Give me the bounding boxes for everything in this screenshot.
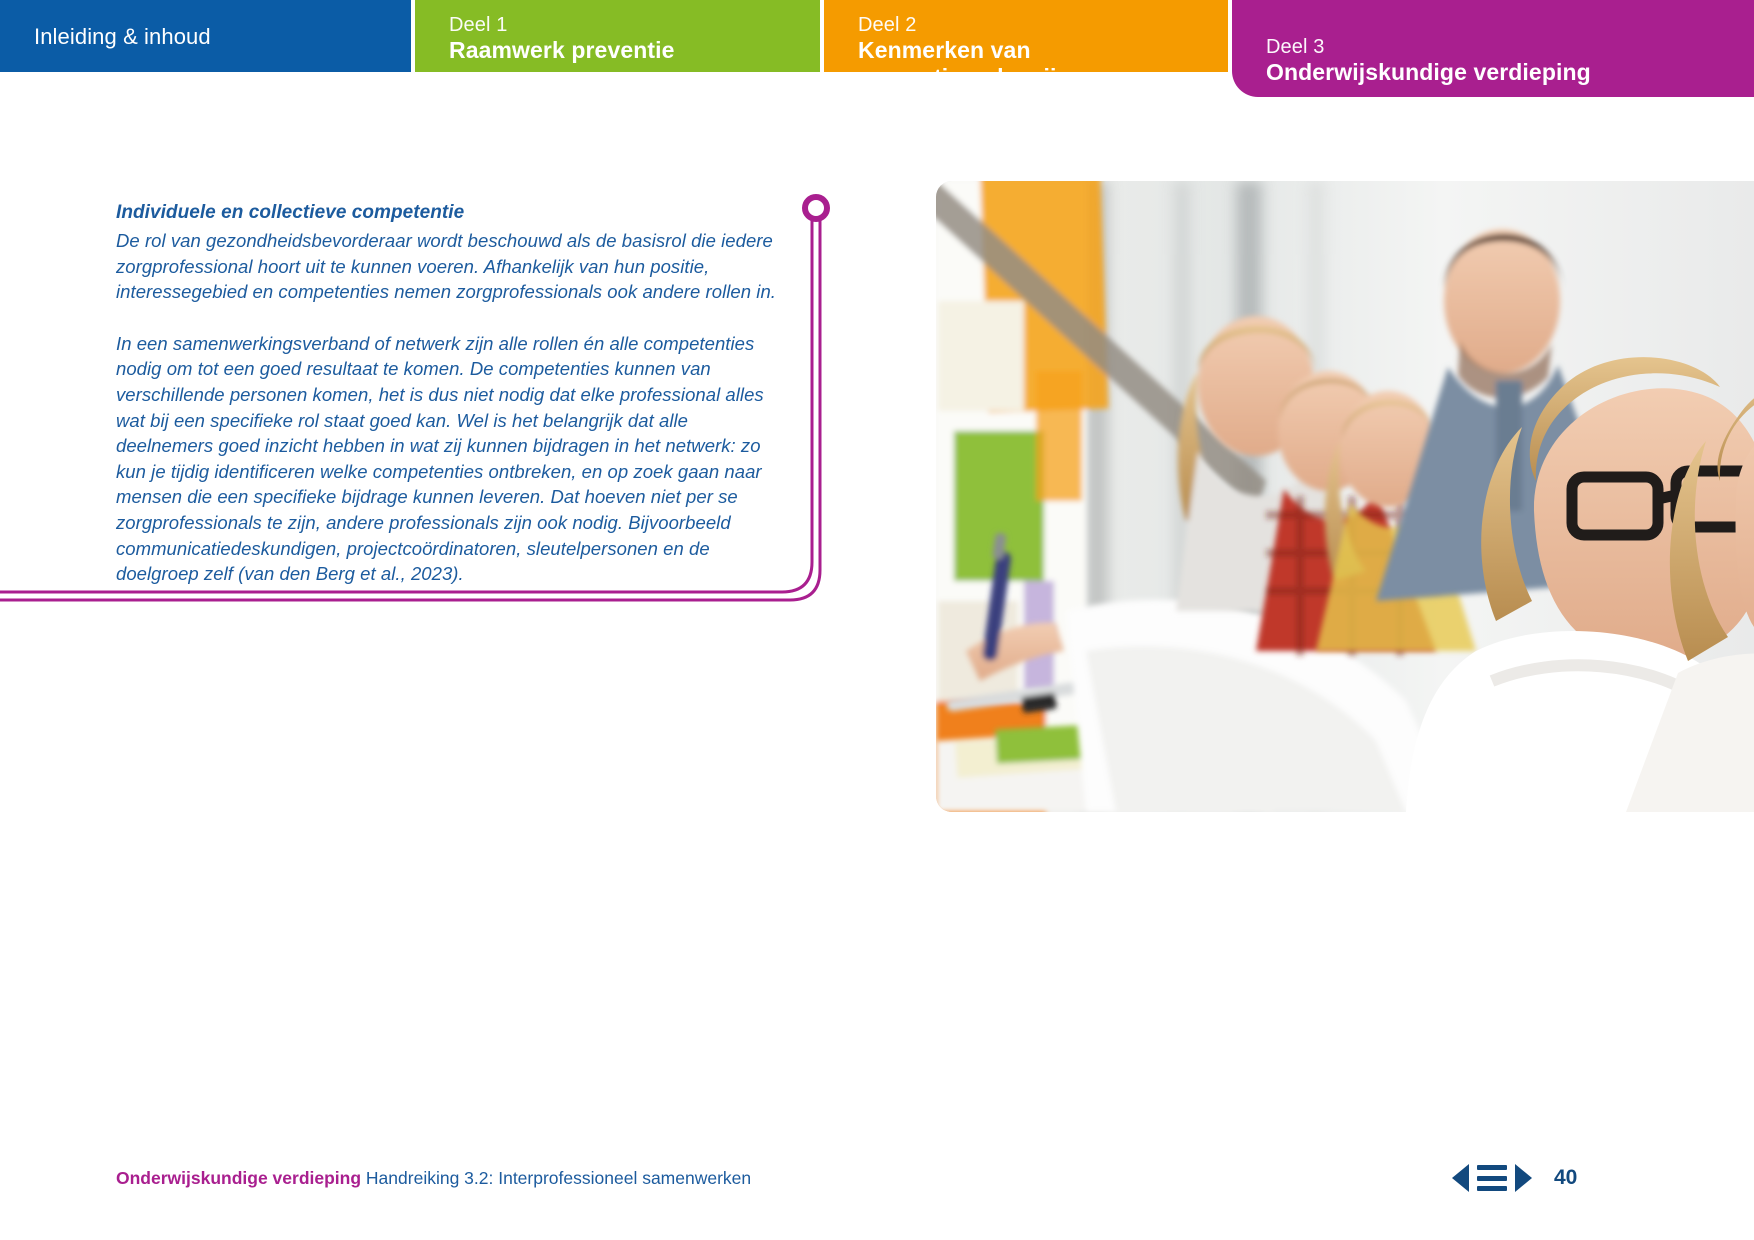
section-tabs: Inleiding & inhoud Deel 1 Raamwerk preve…	[0, 0, 1754, 100]
footer-caption: Onderwijskundige verdieping Handreiking …	[116, 1166, 751, 1190]
tab-deel-2-label: Kenmerken van preventieonderwijs	[858, 37, 1228, 72]
tab-inleiding-label: Inleiding & inhoud	[34, 23, 211, 50]
article-paragraph-1: De rol van gezondheidsbevorderaar wordt …	[116, 228, 776, 305]
tab-deel-3-label: Onderwijskundige verdieping	[1266, 59, 1754, 86]
footer-section-label: Onderwijskundige verdieping	[116, 1168, 361, 1188]
page-navigation: 40	[1452, 1164, 1577, 1192]
tab-deel-2[interactable]: Deel 2 Kenmerken van preventieonderwijs	[824, 0, 1228, 72]
article-heading: Individuele en collectieve competentie	[116, 200, 776, 226]
article-paragraph-2: In een samenwerkingsverband of netwerk z…	[116, 331, 776, 587]
tab-inleiding-inhoud[interactable]: Inleiding & inhoud	[0, 0, 411, 72]
article-text: Individuele en collectieve competentie D…	[116, 200, 776, 587]
previous-page-arrow-icon[interactable]	[1452, 1164, 1469, 1192]
next-page-arrow-icon[interactable]	[1515, 1164, 1532, 1192]
tab-deel-1-label: Raamwerk preventie	[449, 37, 820, 64]
tab-deel-1-number: Deel 1	[449, 14, 820, 37]
page-number: 40	[1554, 1166, 1577, 1190]
tab-deel-1[interactable]: Deel 1 Raamwerk preventie	[415, 0, 820, 72]
table-of-contents-icon[interactable]	[1477, 1165, 1507, 1191]
tab-deel-3-active[interactable]: Deel 3 Onderwijskundige verdieping	[1232, 0, 1754, 97]
page-footer: Onderwijskundige verdieping Handreiking …	[0, 1158, 1754, 1202]
tab-deel-3-number: Deel 3	[1266, 36, 1754, 59]
footer-subtitle-label: Handreiking 3.2: Interprofessioneel same…	[366, 1168, 751, 1188]
tab-deel-2-number: Deel 2	[858, 14, 1228, 37]
photo-group-post-its	[936, 181, 1754, 812]
page: Inleiding & inhoud Deel 1 Raamwerk preve…	[0, 0, 1754, 1240]
bracket-ring-icon	[805, 197, 827, 219]
